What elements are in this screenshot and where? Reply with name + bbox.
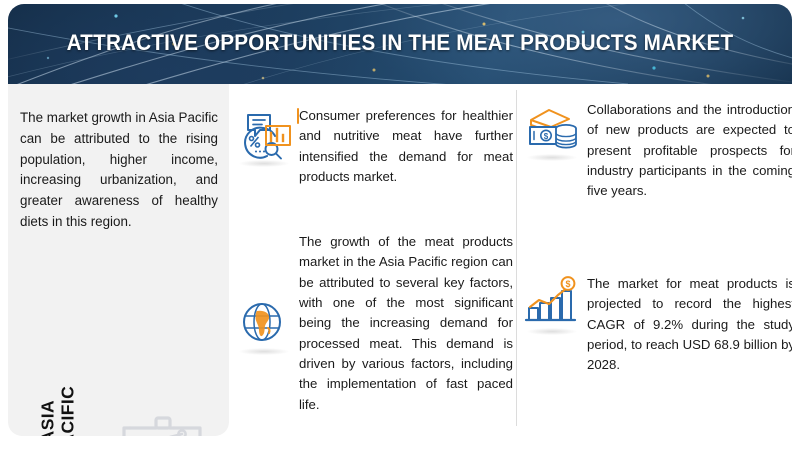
globe-icon-wrap — [235, 294, 293, 352]
icon-shadow — [527, 154, 577, 161]
icon-shadow — [239, 160, 289, 167]
globe-icon — [235, 294, 293, 352]
infographic-canvas: ATTRACTIVE OPPORTUNITIES IN THE MEAT PRO… — [0, 0, 800, 452]
market-research-chart-icon-wrap — [235, 106, 293, 164]
insight-block-cagr: $ The market for meat products is projec… — [523, 274, 792, 376]
content-columns: Consumer preferences for healthier and n… — [229, 84, 792, 436]
presentation-chart-analysis-icon — [112, 410, 220, 436]
svg-text:$: $ — [544, 132, 549, 141]
page-title: ATTRACTIVE OPPORTUNITIES IN THE MEAT PRO… — [39, 30, 760, 56]
middle-column: Consumer preferences for healthier and n… — [229, 84, 517, 436]
icon-shadow — [239, 348, 289, 355]
insight-text-cagr: The market for meat products is projecte… — [585, 274, 792, 376]
icon-shadow — [527, 328, 577, 335]
svg-text:$: $ — [565, 279, 570, 289]
insight-text-consumer: Consumer preferences for healthier and n… — [297, 106, 513, 187]
right-column: $ — [517, 84, 792, 436]
money-cash-coins-icon: $ — [523, 100, 581, 158]
insight-text-growth: The growth of the meat products market i… — [297, 232, 513, 415]
insight-block-growth: The growth of the meat products market i… — [235, 232, 513, 415]
region-label: ASIA PACIFIC — [38, 374, 77, 436]
left-region-panel: The market growth in Asia Pacific can be… — [8, 84, 229, 436]
content-frame: The market growth in Asia Pacific can be… — [8, 84, 792, 436]
orange-accent-bar — [297, 108, 299, 124]
header-banner: ATTRACTIVE OPPORTUNITIES IN THE MEAT PRO… — [8, 4, 792, 84]
market-research-chart-icon — [235, 106, 293, 164]
insight-block-collaborations: $ — [523, 100, 792, 202]
insight-text-collaborations: Collaborations and the introduction of n… — [585, 100, 792, 202]
left-panel-paragraph: The market growth in Asia Pacific can be… — [20, 108, 218, 233]
money-cash-coins-icon-wrap: $ — [523, 100, 581, 158]
growth-bar-chart-dollar-icon-wrap: $ — [523, 274, 581, 332]
growth-bar-chart-dollar-icon: $ — [523, 274, 581, 332]
insight-block-consumer: Consumer preferences for healthier and n… — [235, 106, 513, 187]
